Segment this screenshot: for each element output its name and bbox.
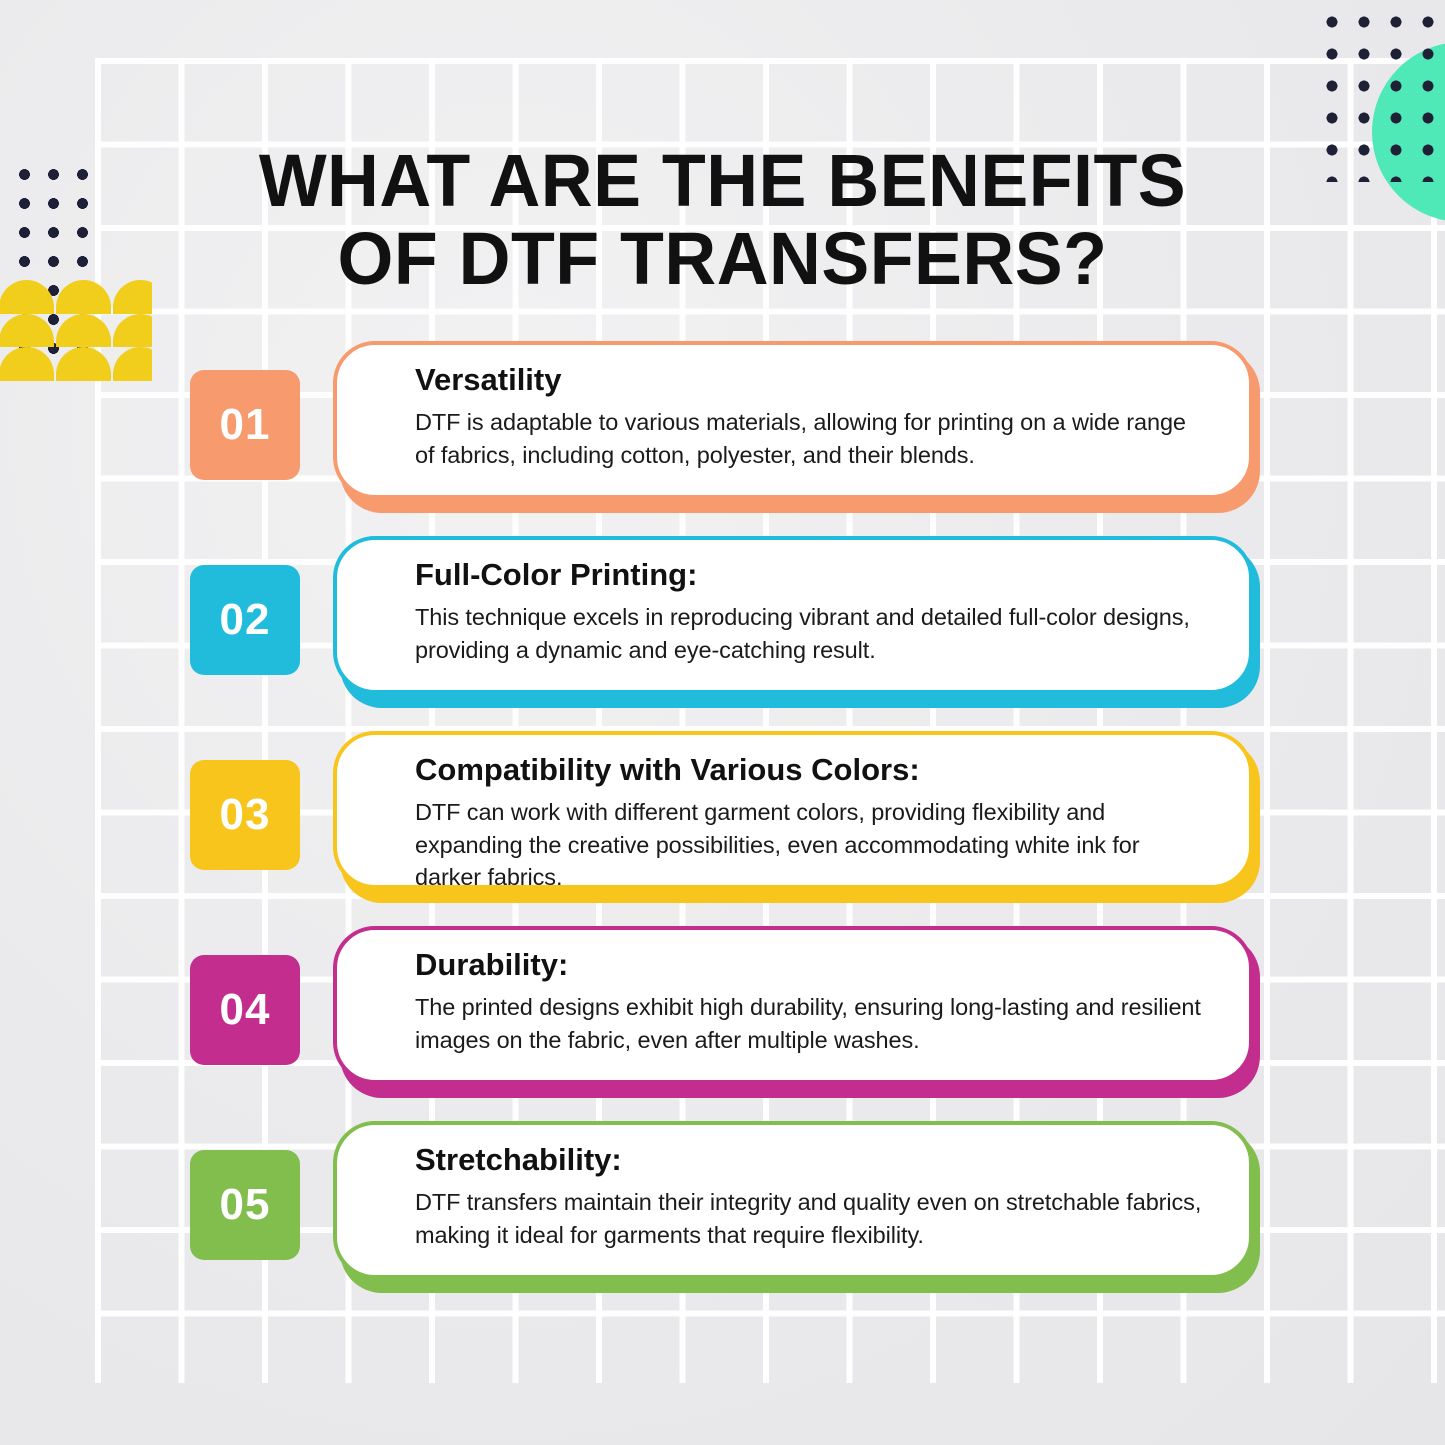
benefit-row: 04 Durability: The printed designs exhib… <box>0 923 1445 1118</box>
benefit-number-badge-03: 03 <box>190 760 300 870</box>
benefit-number-label: 04 <box>220 985 271 1035</box>
benefits-list: 01 Versatility DTF is adaptable to vario… <box>0 338 1445 1313</box>
benefit-row: 05 Stretchability: DTF transfers maintai… <box>0 1118 1445 1313</box>
benefit-heading: Full-Color Printing: <box>415 556 1209 593</box>
half-circle-icon <box>0 280 54 314</box>
benefit-body: The printed designs exhibit high durabil… <box>415 991 1209 1056</box>
benefit-card[interactable]: Compatibility with Various Colors: DTF c… <box>333 731 1253 889</box>
half-circle-icon <box>113 280 152 314</box>
benefit-number-label: 01 <box>220 400 271 450</box>
benefit-row: 01 Versatility DTF is adaptable to vario… <box>0 338 1445 533</box>
benefit-number-label: 05 <box>220 1180 271 1230</box>
mint-circle-decoration <box>1372 42 1445 222</box>
benefit-number-badge-04: 04 <box>190 955 300 1065</box>
benefit-card[interactable]: Full-Color Printing: This technique exce… <box>333 536 1253 694</box>
benefit-body: DTF transfers maintain their integrity a… <box>415 1186 1209 1251</box>
benefit-body: DTF is adaptable to various materials, a… <box>415 406 1209 471</box>
page-title: WHAT ARE THE BENEFITS OF DTF TRANSFERS? <box>201 142 1244 299</box>
benefit-number-label: 02 <box>220 595 271 645</box>
benefit-card[interactable]: Versatility DTF is adaptable to various … <box>333 341 1253 499</box>
benefit-row: 02 Full-Color Printing: This technique e… <box>0 533 1445 728</box>
benefit-number-badge-02: 02 <box>190 565 300 675</box>
benefit-number-label: 03 <box>220 790 271 840</box>
benefit-heading: Versatility <box>415 361 1209 398</box>
benefit-body: This technique excels in reproducing vib… <box>415 601 1209 666</box>
benefit-heading: Durability: <box>415 946 1209 983</box>
benefit-heading: Stretchability: <box>415 1141 1209 1178</box>
benefit-number-badge-05: 05 <box>190 1150 300 1260</box>
benefit-card[interactable]: Stretchability: DTF transfers maintain t… <box>333 1121 1253 1279</box>
dome-row <box>0 280 152 314</box>
infographic-page: WHAT ARE THE BENEFITS OF DTF TRANSFERS? … <box>0 0 1445 1445</box>
benefit-number-badge-01: 01 <box>190 370 300 480</box>
benefit-card[interactable]: Durability: The printed designs exhibit … <box>333 926 1253 1084</box>
benefit-heading: Compatibility with Various Colors: <box>415 751 1209 788</box>
half-circle-icon <box>56 280 111 314</box>
benefit-body: DTF can work with different garment colo… <box>415 796 1209 893</box>
benefit-row: 03 Compatibility with Various Colors: DT… <box>0 728 1445 923</box>
